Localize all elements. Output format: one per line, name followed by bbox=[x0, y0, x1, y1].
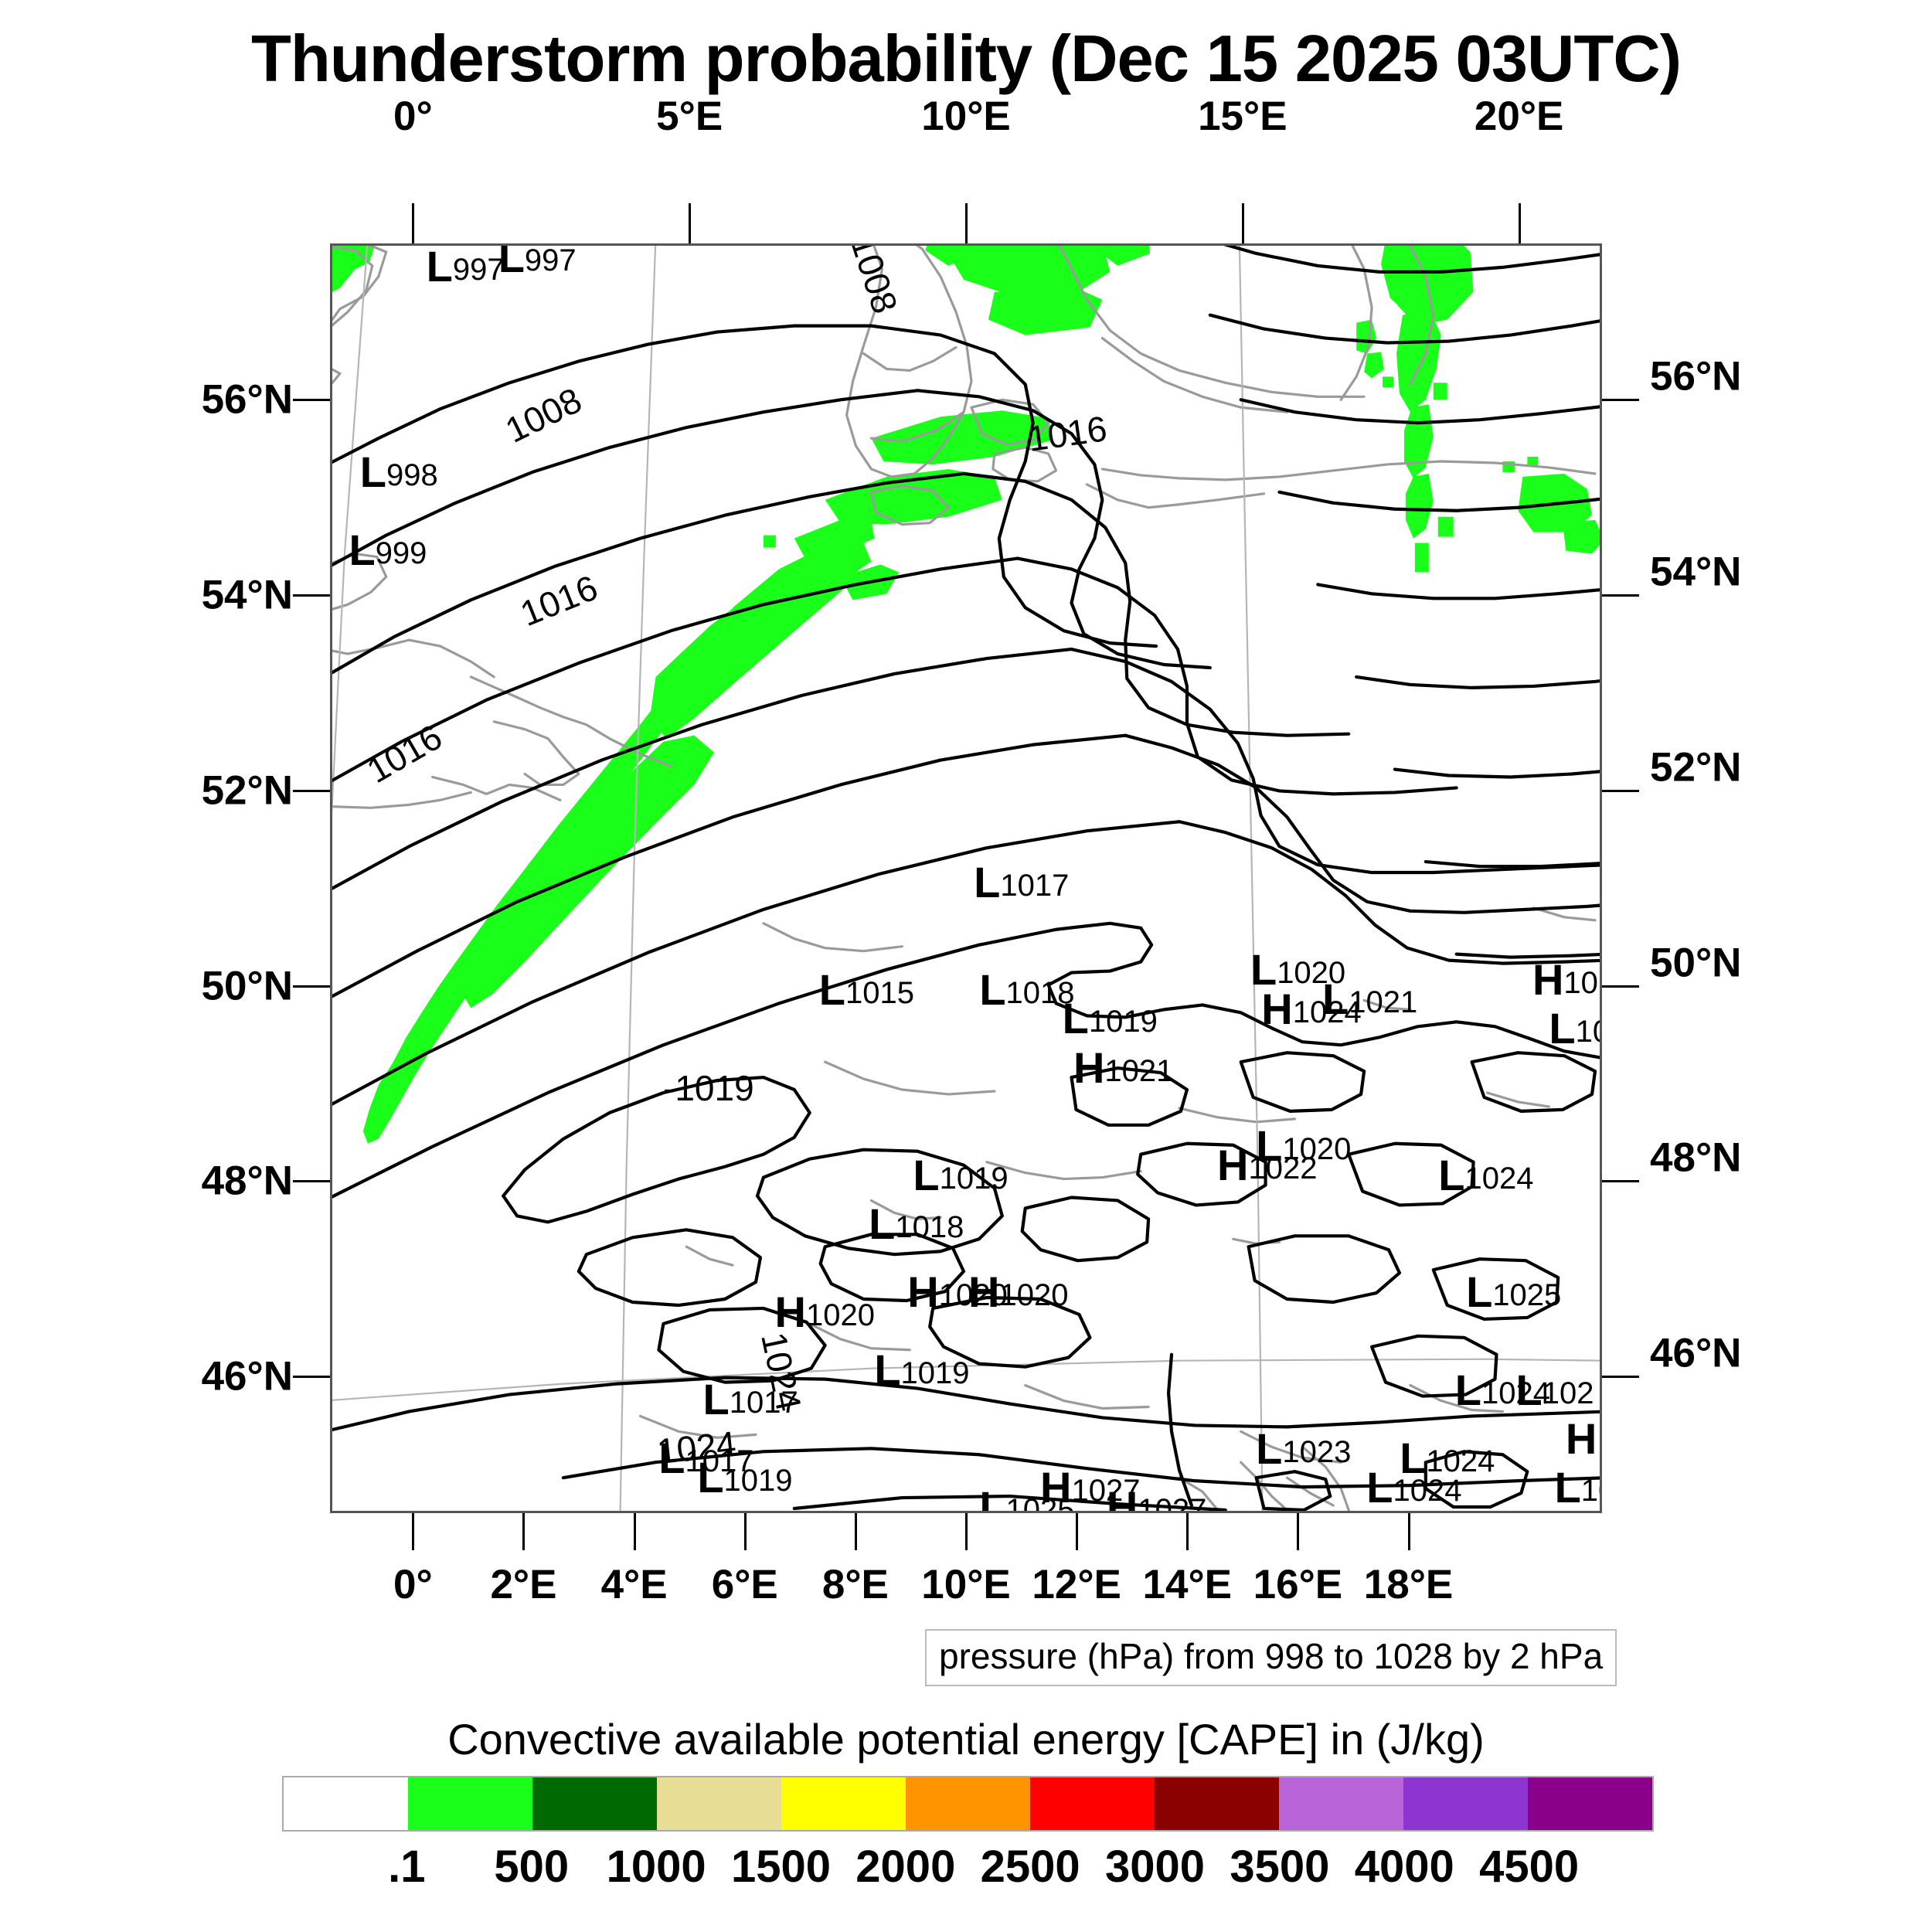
top-tick-3: 15°E bbox=[1198, 93, 1287, 140]
pressure-center-l-14: L1024 bbox=[1438, 1154, 1533, 1197]
pressure-center-l-26: L1023 bbox=[1256, 1427, 1351, 1471]
pressure-center-l-6: L1018 bbox=[979, 968, 1074, 1012]
pressure-center-l-20: L1025 bbox=[1466, 1270, 1561, 1314]
top-tick-2: 10°E bbox=[921, 93, 1011, 140]
axis-tickmark bbox=[1602, 1180, 1639, 1182]
pressure-center-h-18: H1020 bbox=[968, 1270, 1068, 1314]
axis-tickmark bbox=[1602, 790, 1639, 792]
pressure-center-l-13: L1020 bbox=[1256, 1124, 1351, 1168]
pressure-center-l-25: L1019 bbox=[697, 1456, 792, 1499]
pressure-center-l-36: L102 bbox=[1555, 1466, 1602, 1509]
pressure-center-l-34: L102 bbox=[1515, 1369, 1594, 1412]
axis-tickmark bbox=[1602, 594, 1639, 597]
bottom-tick-5: 10°E bbox=[921, 1561, 1011, 1608]
left-tick-2: 52°N bbox=[202, 767, 293, 814]
pressure-center-l-1: L997 bbox=[498, 243, 577, 279]
axis-tickmark bbox=[1602, 399, 1639, 401]
axis-tickmark bbox=[1076, 1513, 1078, 1550]
pressure-legend-box: pressure (hPa) from 998 to 1028 by 2 hPa bbox=[925, 1629, 1617, 1686]
axis-tickmark bbox=[293, 1180, 330, 1182]
axis-tickmark bbox=[965, 1513, 968, 1550]
colorbar-tick-0: .1 bbox=[388, 1841, 425, 1893]
axis-tickmark bbox=[1242, 203, 1244, 243]
pressure-center-h-35: H bbox=[1566, 1417, 1597, 1461]
bottom-tick-6: 12°E bbox=[1032, 1561, 1121, 1608]
colorbar-tick-7: 3500 bbox=[1230, 1841, 1329, 1893]
pressure-center-l-23: L1017 bbox=[702, 1378, 798, 1421]
right-tick-5: 46°N bbox=[1650, 1330, 1741, 1377]
pressure-center-h-30: H1027 bbox=[1107, 1485, 1206, 1513]
axis-tickmark bbox=[1602, 985, 1639, 988]
colorbar-segment-10[interactable] bbox=[1528, 1777, 1652, 1830]
axis-tickmark bbox=[965, 203, 968, 243]
left-tick-5: 46°N bbox=[202, 1353, 293, 1400]
axis-tickmark bbox=[1297, 1513, 1299, 1550]
axis-tickmark bbox=[689, 203, 691, 243]
page-title: Thunderstorm probability (Dec 15 2025 03… bbox=[0, 22, 1932, 97]
axis-tickmark bbox=[293, 1376, 330, 1378]
colorbar-segment-9[interactable] bbox=[1403, 1777, 1528, 1830]
left-tick-1: 54°N bbox=[202, 571, 293, 618]
colorbar-tick-6: 3000 bbox=[1105, 1841, 1205, 1893]
colorbar-tick-5: 2500 bbox=[981, 1841, 1080, 1893]
pressure-center-l-28: L1024 bbox=[1366, 1466, 1461, 1509]
axis-tickmark bbox=[634, 1513, 636, 1550]
axis-tickmark bbox=[744, 1513, 747, 1550]
bottom-tick-8: 16°E bbox=[1253, 1561, 1343, 1608]
colorbar-tick-3: 1500 bbox=[731, 1841, 831, 1893]
colorbar-tick-9: 4500 bbox=[1479, 1841, 1579, 1893]
pressure-center-l-31: L1025 bbox=[979, 1485, 1074, 1513]
pressure-center-h-19: H1020 bbox=[775, 1291, 875, 1334]
top-tick-1: 5°E bbox=[656, 93, 723, 140]
colorbar-segment-5[interactable] bbox=[906, 1777, 1030, 1830]
colorbar-tick-8: 4000 bbox=[1355, 1841, 1454, 1893]
colorbar-segment-0[interactable] bbox=[284, 1777, 408, 1830]
axis-tickmark bbox=[412, 203, 414, 243]
colorbar-title: Convective available potential energy [C… bbox=[0, 1714, 1932, 1764]
axis-tickmark bbox=[1519, 203, 1521, 243]
pressure-center-l-21: L1019 bbox=[874, 1349, 969, 1392]
pressure-center-l-5: L1017 bbox=[974, 861, 1069, 904]
map-plot-area: 1008 1008 1016 1016 1016 1024 1024 -1019… bbox=[330, 243, 1602, 1513]
pressure-center-l-33: L102 bbox=[1549, 1007, 1602, 1050]
contour-label: -1019 bbox=[663, 1067, 754, 1109]
colorbar-segment-3[interactable] bbox=[657, 1777, 781, 1830]
bottom-tick-4: 8°E bbox=[822, 1561, 889, 1608]
colorbar-tick-labels: .150010001500200025003000350040004500 bbox=[282, 1841, 1654, 1895]
top-tick-0: 0° bbox=[393, 93, 433, 140]
right-tick-3: 50°N bbox=[1650, 939, 1741, 986]
right-tick-2: 52°N bbox=[1650, 743, 1741, 791]
pressure-center-l-2: L998 bbox=[360, 451, 438, 494]
axis-tickmark bbox=[1186, 1513, 1189, 1550]
colorbar-segment-7[interactable] bbox=[1155, 1777, 1279, 1830]
pressure-center-h-32: H10 bbox=[1532, 958, 1598, 1002]
cape-colorbar[interactable] bbox=[282, 1776, 1654, 1832]
colorbar-segment-4[interactable] bbox=[781, 1777, 906, 1830]
axis-tickmark bbox=[1602, 1376, 1639, 1378]
right-tick-0: 56°N bbox=[1650, 353, 1741, 400]
colorbar-segment-6[interactable] bbox=[1030, 1777, 1155, 1830]
left-tick-0: 56°N bbox=[202, 376, 293, 423]
left-tick-3: 50°N bbox=[202, 962, 293, 1009]
axis-tickmark bbox=[1408, 1513, 1410, 1550]
axis-tickmark bbox=[293, 399, 330, 401]
bottom-tick-3: 6°E bbox=[712, 1561, 778, 1608]
bottom-tick-2: 4°E bbox=[601, 1561, 668, 1608]
pressure-center-l-0: L997 bbox=[427, 245, 505, 288]
colorbar-tick-4: 2000 bbox=[855, 1841, 955, 1893]
bottom-tick-7: 14°E bbox=[1143, 1561, 1233, 1608]
pressure-center-l-4: L1015 bbox=[819, 968, 914, 1012]
axis-tickmark bbox=[855, 1513, 857, 1550]
top-tick-4: 20°E bbox=[1475, 93, 1564, 140]
axis-tickmark bbox=[412, 1513, 414, 1550]
pressure-center-h-10: H1024 bbox=[1261, 988, 1361, 1031]
bottom-tick-0: 0° bbox=[393, 1561, 433, 1608]
colorbar-segment-2[interactable] bbox=[532, 1777, 657, 1830]
pressure-center-l-16: L1018 bbox=[869, 1202, 964, 1246]
colorbar-segment-8[interactable] bbox=[1279, 1777, 1403, 1830]
pressure-center-l-7: L1019 bbox=[1063, 997, 1158, 1040]
axis-tickmark bbox=[293, 985, 330, 988]
right-tick-1: 54°N bbox=[1650, 548, 1741, 595]
axis-tickmark bbox=[522, 1513, 525, 1550]
pressure-center-h-11: H1021 bbox=[1073, 1046, 1173, 1090]
right-tick-4: 48°N bbox=[1650, 1134, 1741, 1182]
colorbar-tick-1: 500 bbox=[494, 1841, 569, 1893]
colorbar-tick-2: 1000 bbox=[607, 1841, 706, 1893]
pressure-center-l-3: L999 bbox=[349, 529, 427, 572]
bottom-tick-1: 2°E bbox=[490, 1561, 556, 1608]
axis-tickmark bbox=[293, 594, 330, 597]
axis-tickmark bbox=[293, 790, 330, 792]
bottom-tick-9: 18°E bbox=[1364, 1561, 1454, 1608]
colorbar-segment-1[interactable] bbox=[408, 1777, 532, 1830]
left-tick-4: 48°N bbox=[202, 1158, 293, 1205]
pressure-center-l-15: L1019 bbox=[913, 1154, 1008, 1197]
